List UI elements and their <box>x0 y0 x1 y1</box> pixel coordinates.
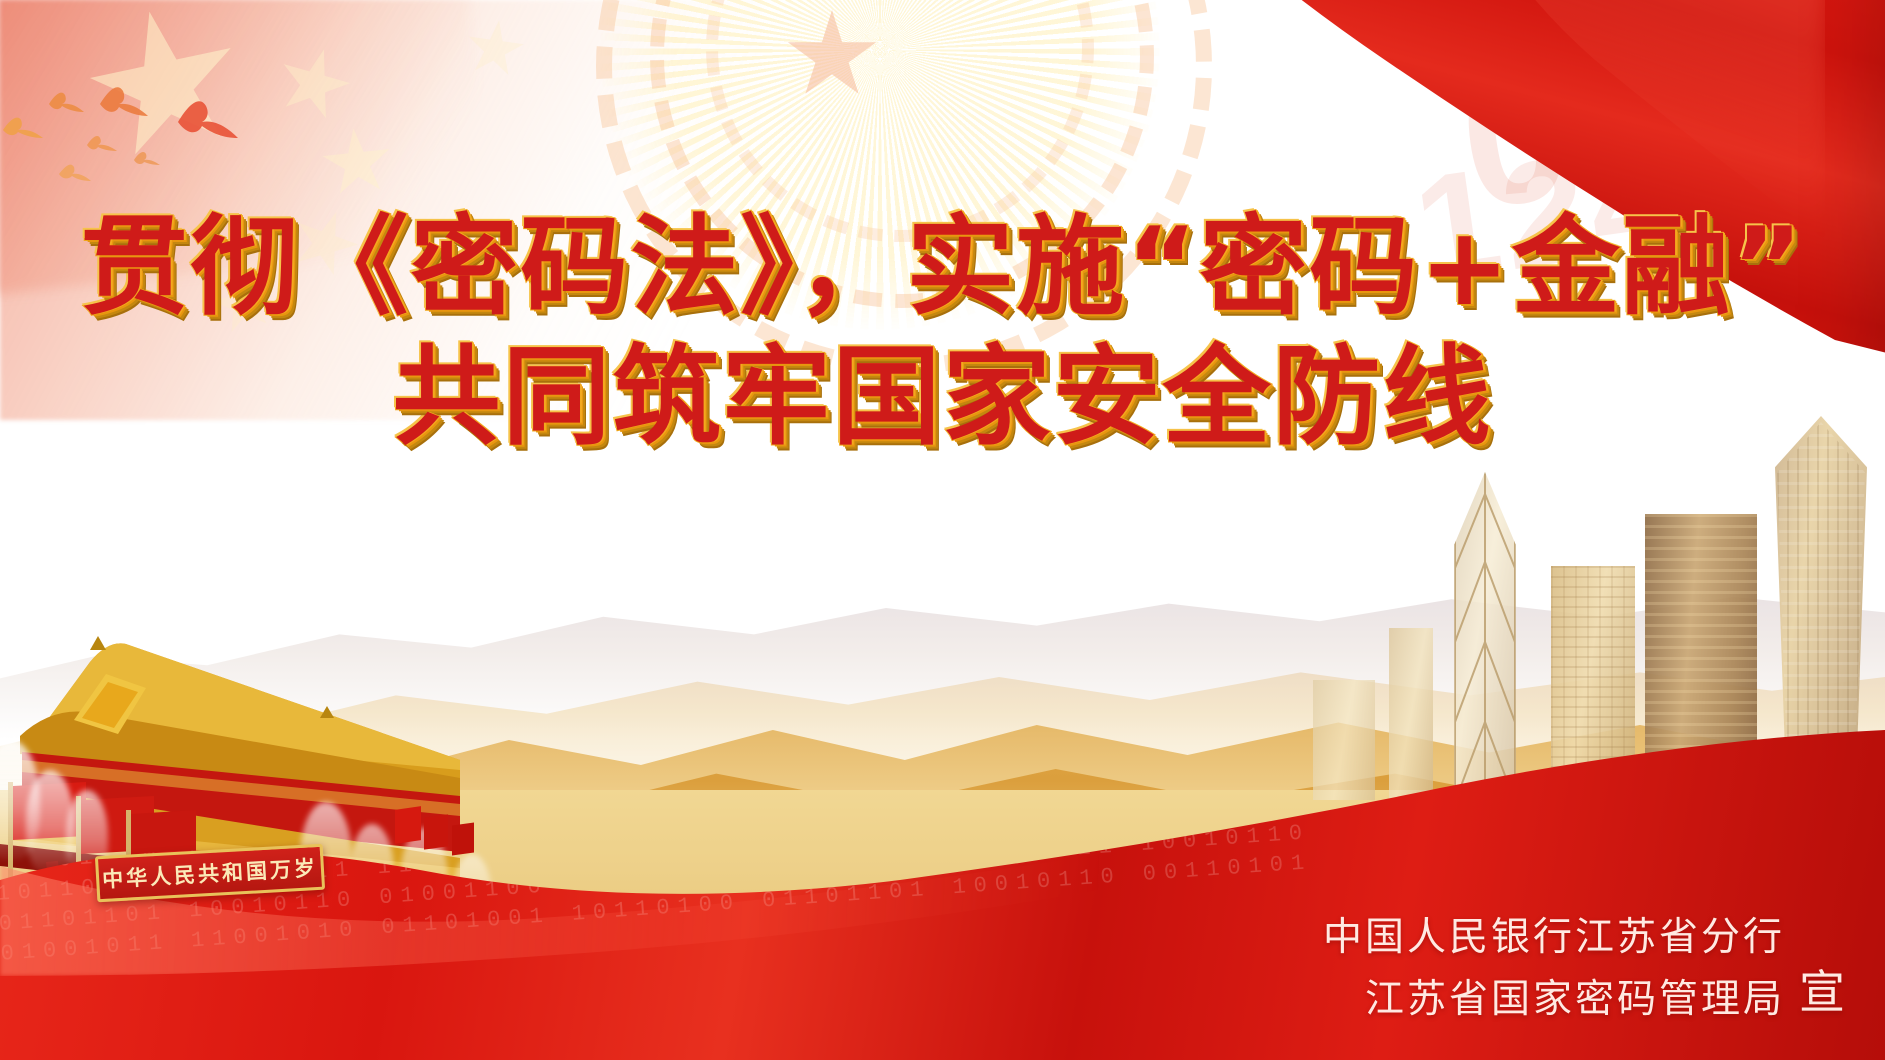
plaza-flag-2 <box>424 814 448 849</box>
title-line-1: 贯彻《密码法》，实施“密码+金融” <box>0 212 1885 324</box>
poster-canvas: 09 1245 <box>0 0 1885 1060</box>
dove-icon-medium <box>96 80 152 122</box>
issuer-seal-char: 宣 <box>1799 956 1845 1024</box>
dove-icon-small-5 <box>57 160 93 184</box>
building-lattice-pattern <box>1437 472 1533 802</box>
dove-icon-small-2 <box>0 112 46 142</box>
dove-icon-small-3 <box>85 132 119 154</box>
plaza-flag-1 <box>395 806 421 844</box>
building-tower-right-windows <box>1777 422 1865 782</box>
issuer-signature: 中国人民银行江苏省分行 江苏省国家密码管理局 宣 <box>1323 906 1845 1024</box>
building-slim-left <box>1389 628 1433 800</box>
dove-icon-small-4 <box>132 148 162 168</box>
plaza-flag-3 <box>452 822 474 855</box>
issuer-line-2: 江苏省国家密码管理局 <box>1365 968 1785 1024</box>
building-block-left <box>1313 680 1375 800</box>
title-line-2: 共同筑牢国家安全防线 <box>0 342 1885 454</box>
dove-icon-large <box>172 92 244 146</box>
poster-title: 贯彻《密码法》，实施“密码+金融” 共同筑牢国家安全防线 <box>0 212 1885 455</box>
issuer-names: 中国人民银行江苏省分行 江苏省国家密码管理局 <box>1323 906 1785 1024</box>
dove-icon-small-1 <box>46 88 86 116</box>
issuer-line-1: 中国人民银行江苏省分行 <box>1323 906 1785 962</box>
gate-plaque-text: 中华人民共和国万岁 <box>101 852 318 894</box>
